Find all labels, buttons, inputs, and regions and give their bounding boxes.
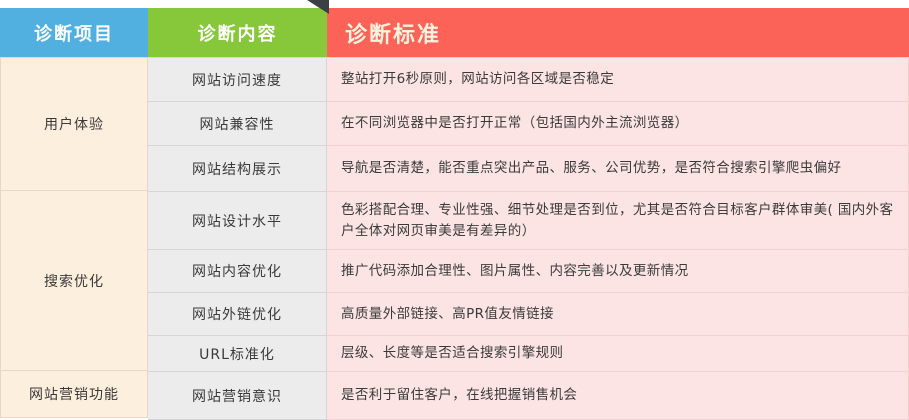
diagnostic-detail-columns: 网站访问速度 整站打开6秒原则，网站访问各区域是否稳定 网站兼容性 在不同浏览器… xyxy=(148,57,909,418)
table-body: 用户体验 搜索优化 网站营销功能 网站访问速度 整站打开6秒原则，网站访问各区域… xyxy=(0,57,909,418)
table-row: 网站访问速度 整站打开6秒原则，网站访问各区域是否稳定 xyxy=(148,57,909,102)
content-label: 网站内容优化 xyxy=(192,261,282,281)
standard-text: 层级、长度等是否适合搜索引擎规则 xyxy=(341,343,563,364)
content-label: 网站结构展示 xyxy=(192,159,282,179)
standard-text: 导航是否清楚，能否重点突出产品、服务、公司优势，是否符合搜索引擎爬虫偏好 xyxy=(341,158,841,179)
group-label: 用户体验 xyxy=(44,114,104,134)
standard-cell: 导航是否清楚，能否重点突出产品、服务、公司优势，是否符合搜索引擎爬虫偏好 xyxy=(327,146,909,192)
content-cell: 网站内容优化 xyxy=(148,250,327,293)
header-label-diagnostic-content: 诊断内容 xyxy=(198,20,278,46)
standard-cell: 推广代码添加合理性、图片属性、内容完善以及更新情况 xyxy=(327,250,909,293)
header-cell-diagnostic-item: 诊断项目 xyxy=(0,8,148,57)
content-cell: 网站兼容性 xyxy=(148,102,327,146)
content-label: 网站兼容性 xyxy=(200,114,275,134)
standard-text: 色彩搭配合理、专业性强、细节处理是否到位，尤其是否符合目标客户群体审美( 国内外… xyxy=(341,200,894,242)
group-cell-user-experience: 用户体验 xyxy=(0,57,148,191)
group-cell-search-optimization: 搜索优化 xyxy=(0,191,148,371)
standard-text: 整站打开6秒原则，网站访问各区域是否稳定 xyxy=(341,69,614,90)
content-label: 网站营销意识 xyxy=(192,386,282,406)
content-label: 网站外链优化 xyxy=(192,304,282,324)
table-row: 网站内容优化 推广代码添加合理性、图片属性、内容完善以及更新情况 xyxy=(148,250,909,293)
content-cell: 网站营销意识 xyxy=(148,372,327,420)
table-header-row: 诊断项目 诊断内容 诊断标准 xyxy=(0,8,909,57)
standard-cell: 层级、长度等是否适合搜索引擎规则 xyxy=(327,336,909,372)
folded-corner-icon xyxy=(307,0,329,14)
header-cell-diagnostic-standard: 诊断标准 xyxy=(327,8,909,57)
standard-cell: 是否利于留住客户，在线把握销售机会 xyxy=(327,372,909,420)
standard-text: 是否利于留住客户，在线把握销售机会 xyxy=(341,385,577,406)
header-label-diagnostic-item: 诊断项目 xyxy=(34,20,114,46)
content-cell: 网站设计水平 xyxy=(148,192,327,250)
content-cell: URL标准化 xyxy=(148,336,327,372)
website-diagnostic-table: 诊断项目 诊断内容 诊断标准 用户体验 搜索优化 网站营销功能 xyxy=(0,0,909,418)
group-cell-marketing-function: 网站营销功能 xyxy=(0,371,148,418)
content-cell: 网站访问速度 xyxy=(148,57,327,102)
standard-text: 在不同浏览器中是否打开正常（包括国内外主流浏览器） xyxy=(341,113,689,134)
content-label: 网站设计水平 xyxy=(192,211,282,231)
standard-cell: 色彩搭配合理、专业性强、细节处理是否到位，尤其是否符合目标客户群体审美( 国内外… xyxy=(327,192,909,250)
header-cell-diagnostic-content: 诊断内容 xyxy=(148,8,327,57)
table-row: 网站外链优化 高质量外部链接、高PR值友情链接 xyxy=(148,293,909,336)
standard-cell: 高质量外部链接、高PR值友情链接 xyxy=(327,293,909,336)
content-cell: 网站外链优化 xyxy=(148,293,327,336)
standard-text: 高质量外部链接、高PR值友情链接 xyxy=(341,304,554,325)
header-label-diagnostic-standard: 诊断标准 xyxy=(345,17,441,49)
group-label: 搜索优化 xyxy=(44,271,104,291)
diagnostic-item-column: 用户体验 搜索优化 网站营销功能 xyxy=(0,57,148,418)
content-cell: 网站结构展示 xyxy=(148,146,327,192)
standard-cell: 整站打开6秒原则，网站访问各区域是否稳定 xyxy=(327,57,909,102)
table-row: 网站结构展示 导航是否清楚，能否重点突出产品、服务、公司优势，是否符合搜索引擎爬… xyxy=(148,146,909,192)
table-row: URL标准化 层级、长度等是否适合搜索引擎规则 xyxy=(148,336,909,372)
content-label: 网站访问速度 xyxy=(192,70,282,90)
standard-text: 推广代码添加合理性、图片属性、内容完善以及更新情况 xyxy=(341,261,689,282)
table-row: 网站兼容性 在不同浏览器中是否打开正常（包括国内外主流浏览器） xyxy=(148,102,909,146)
content-label: URL标准化 xyxy=(199,344,275,364)
group-label: 网站营销功能 xyxy=(29,384,119,404)
table-row: 网站设计水平 色彩搭配合理、专业性强、细节处理是否到位，尤其是否符合目标客户群体… xyxy=(148,192,909,250)
standard-cell: 在不同浏览器中是否打开正常（包括国内外主流浏览器） xyxy=(327,102,909,146)
table-row: 网站营销意识 是否利于留住客户，在线把握销售机会 xyxy=(148,372,909,420)
